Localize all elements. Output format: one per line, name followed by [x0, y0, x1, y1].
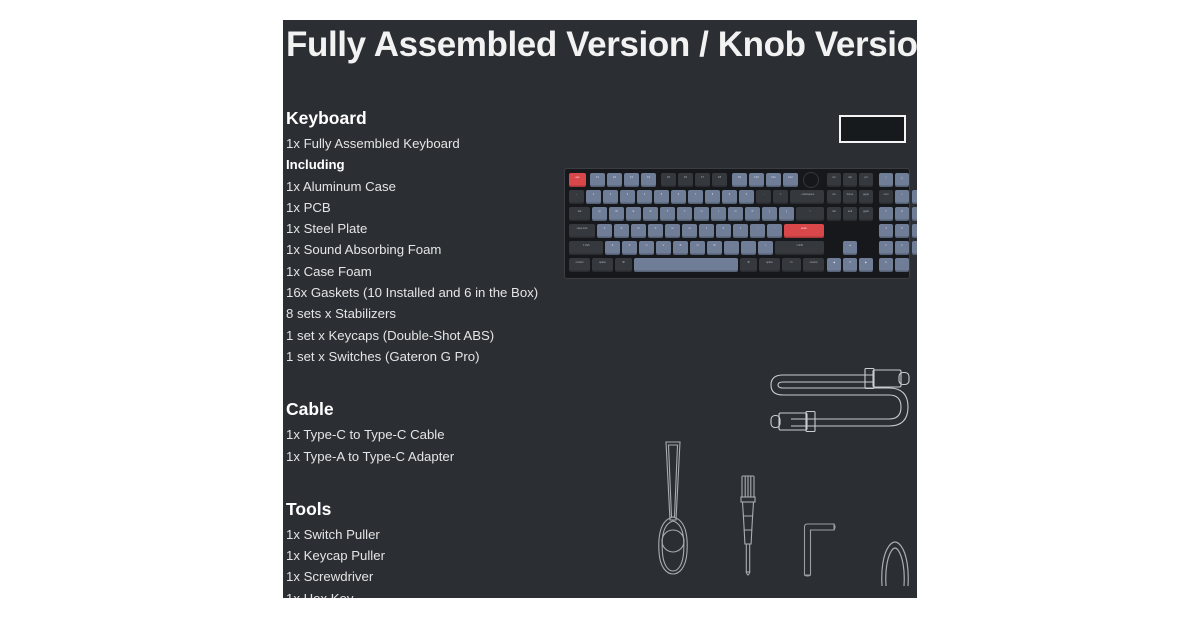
screwdriver-illustration [735, 472, 761, 580]
key-u: U [694, 207, 709, 221]
key-slash: / [758, 241, 773, 255]
key-f5: F5 [661, 173, 676, 187]
key-p: P [745, 207, 760, 221]
contents-list: Keyboard 1x Fully Assembled Keyboard Inc… [286, 108, 556, 598]
keyboard-image: esc F1 F2 F3 F4 F5 F6 F7 F8 F9 F10 F11 F… [564, 168, 910, 279]
key-k: K [716, 224, 731, 238]
key-f: F [648, 224, 663, 238]
key-light2: △ [895, 173, 909, 187]
key-tab: tab [569, 207, 590, 221]
key-o: O [728, 207, 743, 221]
key-rshift: ⇧shift [775, 241, 824, 255]
key-6: 6 [671, 190, 686, 204]
key-lcontrol: control [569, 258, 590, 272]
key-h: H [682, 224, 697, 238]
key-num9: 9 [912, 207, 917, 221]
key-d: D [631, 224, 646, 238]
key-num7: 7 [879, 207, 893, 221]
key-5: 5 [654, 190, 669, 204]
key-y: Y [677, 207, 692, 221]
key-e: E [626, 207, 641, 221]
list-item: 1x Sound Absorbing Foam [286, 239, 556, 260]
list-item: 8 sets x Stabilizers [286, 303, 556, 324]
key-equal: = [773, 190, 788, 204]
list-item: 1x Keycap Puller [286, 545, 556, 566]
list-item: 1 set x Switches (Gateron G Pro) [286, 346, 556, 367]
key-8: 8 [705, 190, 720, 204]
key-prt: prt [859, 173, 873, 187]
key-comma: , [724, 241, 739, 255]
key-0: 0 [739, 190, 754, 204]
list-item: 1x Aluminum Case [286, 176, 556, 197]
key-3: 3 [620, 190, 635, 204]
key-semicolon: ; [750, 224, 765, 238]
key-insert: ins [827, 190, 841, 204]
key-loption: option [592, 258, 613, 272]
list-item: 1x Hex Key [286, 588, 556, 598]
key-del2: del [843, 173, 857, 187]
key-z: Z [605, 241, 620, 255]
key-q: Q [592, 207, 607, 221]
key-divide: / [895, 190, 909, 204]
key-t: T [660, 207, 675, 221]
list-item: 1x Screwdriver [286, 566, 556, 587]
key-lcommand: ⌘ [615, 258, 632, 272]
key-num5: 5 [895, 224, 909, 238]
key-r: R [643, 207, 658, 221]
key-minus: - [756, 190, 771, 204]
key-backspace: ←backspace [790, 190, 824, 204]
keycap-puller-illustration [875, 530, 915, 592]
key-7: 7 [688, 190, 703, 204]
key-2: 2 [603, 190, 618, 204]
key-x: X [622, 241, 637, 255]
key-num3: 3 [912, 241, 917, 255]
key-f7: F7 [695, 173, 710, 187]
subsection-heading-including: Including [286, 154, 556, 175]
keyboard-row-bottom: control option ⌘ ⌘ option fn control ◀ ▼… [569, 258, 906, 272]
key-rcommand: ⌘ [740, 258, 757, 272]
list-item: 16x Gaskets (10 Installed and 6 in the B… [286, 282, 556, 303]
key-arrow-up: ▲ [843, 241, 857, 255]
key-4: 4 [637, 190, 652, 204]
key-f10: F10 [749, 173, 764, 187]
rotary-knob [803, 172, 819, 188]
key-b: B [673, 241, 688, 255]
key-w: W [609, 207, 624, 221]
key-f2: F2 [607, 173, 622, 187]
screenshot-root: Fully Assembled Version / Knob Version K… [0, 0, 1200, 630]
key-tilde: ~ [569, 190, 584, 204]
key-g: G [665, 224, 680, 238]
list-item: 1x Type-C to Type-C Cable [286, 424, 556, 445]
key-pgdn: pgdn [859, 207, 873, 221]
key-n: N [690, 241, 705, 255]
key-i: I [711, 207, 726, 221]
key-capslock: caps lock [569, 224, 595, 238]
list-item: 1x Type-A to Type-C Adapter [286, 446, 556, 467]
list-item: 1x PCB [286, 197, 556, 218]
key-quote: ' [767, 224, 782, 238]
key-fn: fn [782, 258, 801, 272]
key-home: home [843, 190, 857, 204]
key-delete: del [827, 207, 841, 221]
key-f9: F9 [732, 173, 747, 187]
key-numdot: . [895, 258, 909, 272]
keyboard-row-function: esc F1 F2 F3 F4 F5 F6 F7 F8 F9 F10 F11 F… [569, 173, 906, 187]
key-f3: F3 [624, 173, 639, 187]
hex-key-illustration [801, 503, 841, 578]
key-f11: F11 [766, 173, 781, 187]
key-1: 1 [586, 190, 601, 204]
key-numpad-multiply: * [912, 190, 917, 204]
key-m: M [707, 241, 722, 255]
list-item: 1 set x Keycaps (Double-Shot ABS) [286, 325, 556, 346]
keyboard-row-shift: ⇧shift Z X C V B N M , . / ⇧shift ▲ 1 2 [569, 241, 906, 255]
key-f4: F4 [641, 173, 656, 187]
key-numlock: num [879, 190, 893, 204]
key-9: 9 [722, 190, 737, 204]
key-light1: ☼ [879, 173, 893, 187]
list-item: 1x Switch Puller [286, 524, 556, 545]
key-num1: 1 [879, 241, 893, 255]
keyboard-row-number: ~ 1 2 3 4 5 6 7 8 9 0 - = ←backspace ins… [569, 190, 906, 204]
key-esc: esc [569, 173, 586, 187]
key-j: J [699, 224, 714, 238]
section-heading-cable: Cable [286, 367, 556, 424]
key-lshift: ⇧shift [569, 241, 603, 255]
key-enter: enter [784, 224, 824, 238]
keyboard-keys-area: esc F1 F2 F3 F4 F5 F6 F7 F8 F9 F10 F11 F… [569, 173, 906, 274]
key-rcontrol: control [803, 258, 824, 272]
key-l: L [733, 224, 748, 238]
page-title: Fully Assembled Version / Knob Version [286, 25, 917, 65]
list-item: 1x Fully Assembled Keyboard [286, 133, 556, 154]
key-f12: F12 [783, 173, 798, 187]
key-roption: option [759, 258, 780, 272]
key-arrow-right: ▶ [859, 258, 873, 272]
key-num6: 6 [912, 224, 917, 238]
key-space [634, 258, 738, 272]
key-num0: 0 [879, 258, 893, 272]
key-lbracket: [ [762, 207, 777, 221]
cable-illustration [761, 357, 911, 457]
key-arrow-left: ◀ [827, 258, 841, 272]
key-period: . [741, 241, 756, 255]
key-ins: ins [827, 173, 841, 187]
switch-puller-illustration [655, 424, 691, 576]
key-arrow-down: ▼ [843, 258, 857, 272]
key-backslash: \ [796, 207, 824, 221]
list-item: 1x Steel Plate [286, 218, 556, 239]
key-v: V [656, 241, 671, 255]
key-end: end [843, 207, 857, 221]
keyboard-row-caps: caps lock A S D F G H J K L ; ' enter 4 … [569, 224, 906, 238]
key-f8: F8 [712, 173, 727, 187]
section-heading-keyboard: Keyboard [286, 108, 556, 133]
key-pgup: pgup [859, 190, 873, 204]
key-rbracket: ] [779, 207, 794, 221]
key-s: S [614, 224, 629, 238]
key-num2: 2 [895, 241, 909, 255]
key-num4: 4 [879, 224, 893, 238]
key-f6: F6 [678, 173, 693, 187]
key-f1: F1 [590, 173, 605, 187]
list-item: 1x Case Foam [286, 261, 556, 282]
key-num8: 8 [895, 207, 909, 221]
keyboard-row-tab: tab Q W E R T Y U I O P [ ] \ del end pg [569, 207, 906, 221]
key-c: C [639, 241, 654, 255]
key-a: A [597, 224, 612, 238]
product-contents-panel: Fully Assembled Version / Knob Version K… [283, 20, 917, 598]
section-heading-tools: Tools [286, 467, 556, 524]
empty-outlined-box [839, 115, 906, 143]
